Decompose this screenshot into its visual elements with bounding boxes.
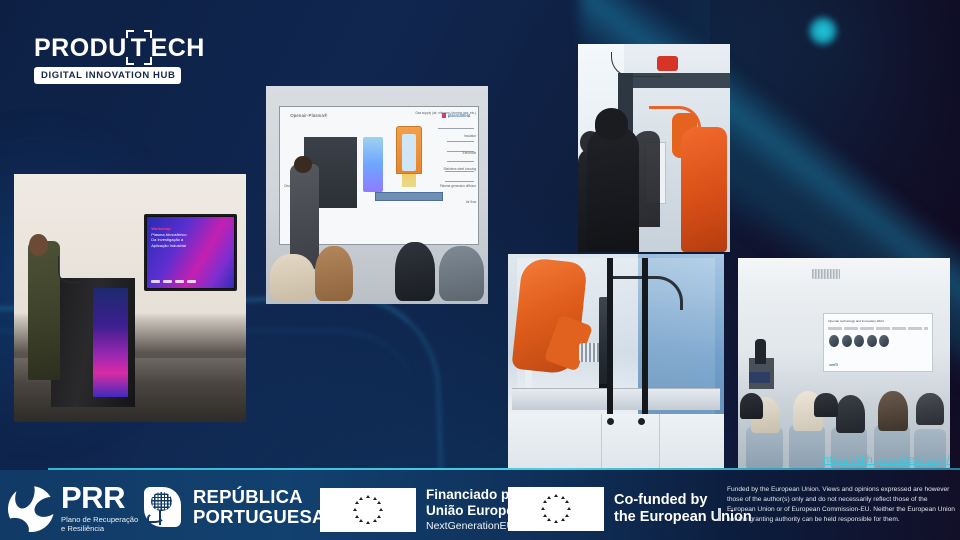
audience-person xyxy=(740,393,763,419)
prr-subtitle-line2: e Resiliência xyxy=(61,524,138,533)
bracket-bottom-left-icon xyxy=(126,57,134,65)
eu-star-icon xyxy=(561,518,565,521)
callout-label: Air flow xyxy=(466,200,476,204)
callout-line xyxy=(445,181,474,182)
prr-subtitle-line1: Plano de Recuperação xyxy=(61,515,138,524)
logo-bracketed-t: T xyxy=(128,36,150,61)
photo1-screen-text: Workshop Plasma Atmosférico Da Investiga… xyxy=(151,226,186,249)
eu-star-icon xyxy=(353,508,357,511)
photo3-red-valve-icon xyxy=(657,56,678,71)
audience-person xyxy=(355,252,393,301)
photo4-knob-icon xyxy=(638,418,645,425)
audience-person xyxy=(916,393,944,426)
logo-text-suffix: ECH xyxy=(151,36,205,61)
eu-cofunded-logo: Co-funded by the European Union xyxy=(508,487,752,531)
eu-star-icon xyxy=(377,515,381,518)
audience-person xyxy=(315,246,353,301)
photo2-audience xyxy=(266,230,488,304)
sponsor-logo-icon xyxy=(163,280,172,283)
eu-star-icon xyxy=(366,495,370,498)
photo5-projection-screen: Openair technology and innovation 2024 c… xyxy=(823,313,933,372)
eu-disclaimer-text: Funded by the European Union. Views and … xyxy=(727,485,955,525)
photo-auditorium-audience: Openair technology and innovation 2024 c… xyxy=(738,258,950,470)
photo5-slide-brand: cenTI xyxy=(829,363,838,367)
logo-text-prefix: PRODU xyxy=(34,36,127,61)
sponsor-logo-icon xyxy=(151,280,160,283)
eu-star-icon xyxy=(541,507,545,510)
slide-icon xyxy=(842,335,852,347)
eu-star-icon xyxy=(377,501,381,504)
photo1-microphone-icon xyxy=(58,256,81,283)
photo3-observer-main-head xyxy=(595,108,628,139)
photo1-podium-screen xyxy=(93,288,128,396)
glowing-dot-icon xyxy=(806,14,840,48)
photo1-speaker-head xyxy=(29,234,48,256)
logo-tagline: DIGITAL INNOVATION HUB xyxy=(34,67,181,84)
photo2-slide-plasma-jet xyxy=(363,137,383,192)
eu-star-icon xyxy=(373,519,377,522)
eu-star-icon xyxy=(355,501,359,504)
prr-text: PRR Plano de Recuperação e Resiliência xyxy=(61,484,138,534)
photo1-podium xyxy=(51,278,135,407)
photo2-presenter-head xyxy=(294,156,312,173)
eu-star-icon xyxy=(355,515,359,518)
chair xyxy=(789,425,825,468)
eu-star-icon xyxy=(547,518,551,521)
photo3-cable xyxy=(611,52,663,77)
audience-person xyxy=(395,242,435,301)
eu-funded-logo: Financiado pela União Europeia NextGener… xyxy=(320,487,528,533)
audience-person xyxy=(270,254,314,301)
photo5-speaker xyxy=(755,339,766,364)
callout-line xyxy=(447,161,474,162)
eu-star-icon xyxy=(379,508,383,511)
photo-robot-cell-observers xyxy=(578,44,730,252)
photo1-wall-screen: Workshop Plasma Atmosférico Da Investiga… xyxy=(144,214,237,291)
eu-star-icon xyxy=(554,520,558,523)
callout-label: Gas supply (air, nitrogen, forming gas, … xyxy=(415,111,476,115)
photo-whiteboard-presentation: Openair-Plasma® plasmatreat Gas xyxy=(266,86,488,304)
eu-star-icon xyxy=(543,514,547,517)
republica-line1: REPÚBLICA xyxy=(193,487,326,507)
eu-star-icon xyxy=(547,496,551,499)
republica-text: REPÚBLICA PORTUGUESA xyxy=(193,487,326,526)
prr-mark-icon xyxy=(8,486,54,532)
eu-star-icon xyxy=(359,497,363,500)
photo1-speaker-body xyxy=(28,241,60,380)
slide-icon xyxy=(879,335,889,347)
photo2-slide-title: Openair-Plasma® xyxy=(290,113,327,118)
eu-star-icon xyxy=(567,507,571,510)
republica-line2: PORTUGUESA xyxy=(193,507,326,527)
photo4-machine-base xyxy=(508,414,724,470)
photo4-panel-seam xyxy=(659,414,660,470)
photo2-diagram-callouts xyxy=(383,123,474,206)
photo4-frame-bar xyxy=(642,258,648,422)
photo5-ceiling xyxy=(738,258,950,305)
photo4-worktable xyxy=(512,388,719,410)
slide-icon xyxy=(854,335,864,347)
bracket-top-left-icon xyxy=(126,30,134,38)
photo1-screen-title3: Aplicação Industrial xyxy=(151,243,186,249)
bracket-top-right-icon xyxy=(144,30,152,38)
footer-divider xyxy=(48,468,960,470)
crest-armillary-sphere xyxy=(151,492,172,511)
eu-star-icon xyxy=(373,497,377,500)
eu-star-icon xyxy=(366,521,370,524)
eu-flag-icon xyxy=(508,487,604,531)
callout-label: Plasma generator diffusor xyxy=(440,184,476,188)
photo5-ceiling-vent-icon xyxy=(812,269,840,280)
photo4-frame-bar xyxy=(607,258,613,422)
callout-label: Electrode xyxy=(463,151,476,155)
callout-line xyxy=(447,141,474,142)
eu-star-icon xyxy=(561,496,565,499)
produtech-dih-logo: PRODU T ECH DIGITAL INNOVATION HUB xyxy=(34,36,174,84)
photo5-slide-title: Openair technology and innovation 2024 xyxy=(828,319,884,323)
photo-kuka-robot-arm xyxy=(508,254,724,470)
photo5-slide-icon-row xyxy=(829,335,889,347)
slide-icon xyxy=(867,335,877,347)
audience-person xyxy=(836,395,866,434)
audience-person xyxy=(878,391,908,432)
sponsor-logo-icon xyxy=(187,280,196,283)
dih-website-link[interactable]: https://dih.produtech.org/ xyxy=(823,454,950,466)
eu-star-icon xyxy=(565,514,569,517)
republica-portuguesa-logo: REPÚBLICA PORTUGUESA xyxy=(141,485,326,529)
bracket-bottom-right-icon xyxy=(144,57,152,65)
eu-star-icon xyxy=(554,494,558,497)
eu-star-icon xyxy=(359,519,363,522)
photo-podium-speaker: Workshop Plasma Atmosférico Da Investiga… xyxy=(14,174,246,422)
eu-star-icon xyxy=(565,500,569,503)
photo1-screen-sponsor-logos xyxy=(151,280,196,283)
photo4-panel-seam xyxy=(601,414,602,470)
presentation-slide: PRODU T ECH DIGITAL INNOVATION HUB Works… xyxy=(0,0,960,540)
logo-wordmark: PRODU T ECH xyxy=(34,36,174,61)
photo5-slide-subtext xyxy=(828,327,928,330)
callout-label: Stainless steel housing xyxy=(444,167,477,171)
chair xyxy=(746,427,782,468)
photo3-robot-arm xyxy=(681,127,727,252)
republica-crest-icon xyxy=(141,485,185,529)
callout-label: Insulator xyxy=(464,134,476,138)
callout-line xyxy=(438,128,474,129)
prr-title: PRR xyxy=(61,484,138,512)
audience-person xyxy=(439,246,483,301)
sponsor-logo-icon xyxy=(175,280,184,283)
slide-icon xyxy=(829,335,839,347)
eu-star-icon xyxy=(543,500,547,503)
eu-flag-icon xyxy=(320,488,416,532)
photo3-observer-main-body xyxy=(587,127,639,252)
prr-logo: PRR Plano de Recuperação e Resiliência xyxy=(8,484,138,534)
audience-person xyxy=(814,393,837,417)
disclaimer-rule xyxy=(718,508,721,521)
